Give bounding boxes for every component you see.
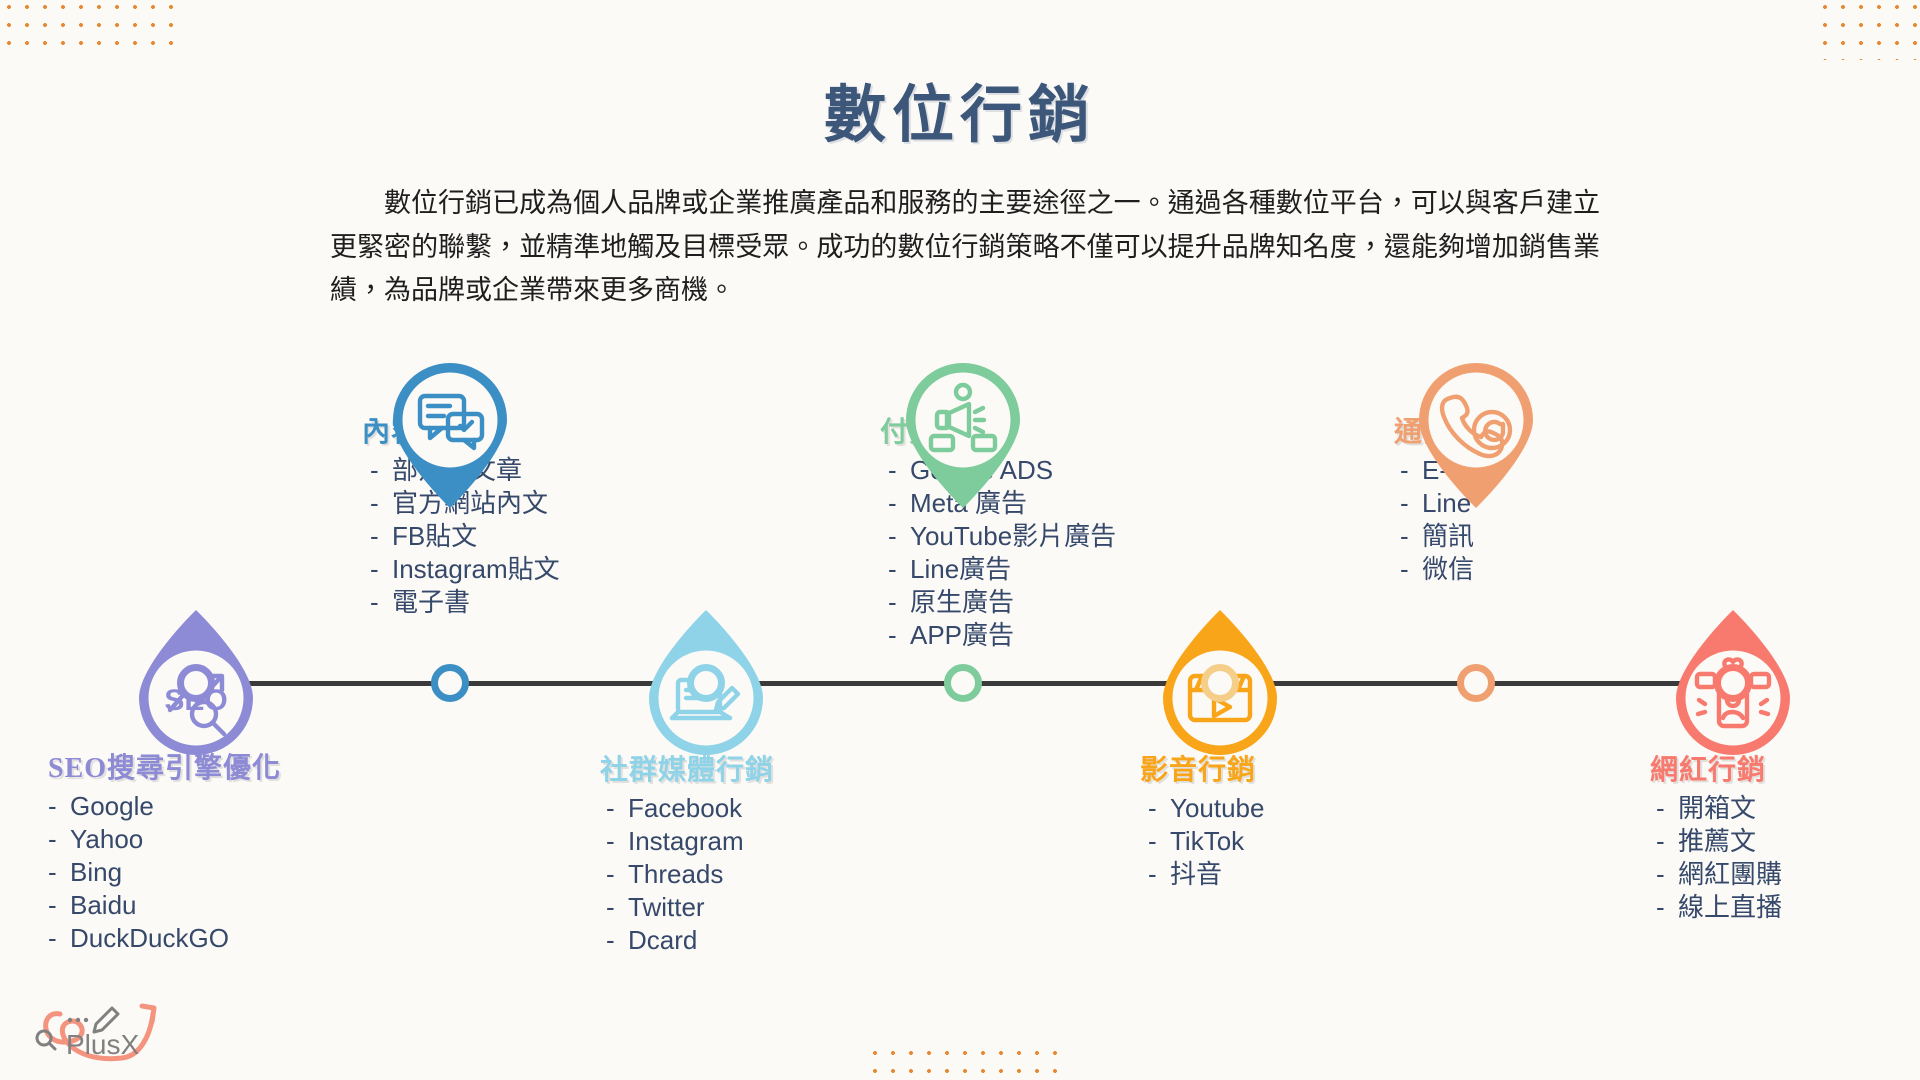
list-item: -電子書 xyxy=(370,586,670,619)
list-item-label: Line廣告 xyxy=(910,554,1011,584)
list-item-label: Yahoo xyxy=(70,824,143,854)
list-bullet-dash: - xyxy=(888,520,897,553)
list-bullet-dash: - xyxy=(606,825,615,858)
list-item: -抖音 xyxy=(1148,858,1438,891)
section-list-influencer: -開箱文-推薦文-網紅團購-線上直播 xyxy=(1656,792,1920,924)
list-item-label: 抖音 xyxy=(1170,859,1222,889)
list-item: -Facebook xyxy=(606,792,906,825)
section-influencer: 網紅行銷-開箱文-推薦文-網紅團購-線上直播 xyxy=(1656,748,1920,924)
pin-paid-ads[interactable] xyxy=(888,358,1038,508)
list-item: -Google xyxy=(48,790,348,823)
list-bullet-dash: - xyxy=(888,586,897,619)
section-list-social: -Facebook-Instagram-Threads-Twitter-Dcar… xyxy=(606,792,906,957)
infographic-canvas: 數位行銷 數位行銷已成為個人品牌或企業推廣產品和服務的主要途徑之一。通過各種數位… xyxy=(0,0,1920,1080)
section-list-seo: -Google-Yahoo-Bing-Baidu-DuckDuckGO xyxy=(48,790,348,955)
timeline-node-paid-ads[interactable] xyxy=(944,664,982,702)
list-item: -微信 xyxy=(1400,553,1690,586)
list-bullet-dash: - xyxy=(48,856,57,889)
list-item-label: DuckDuckGO xyxy=(70,923,229,953)
timeline-node-content[interactable] xyxy=(431,664,469,702)
list-bullet-dash: - xyxy=(606,924,615,957)
list-item-label: Instagram xyxy=(628,826,744,856)
list-item: -Twitter xyxy=(606,891,906,924)
list-item: -推薦文 xyxy=(1656,825,1920,858)
plusx-logo: PlusX xyxy=(22,992,172,1072)
list-bullet-dash: - xyxy=(1656,792,1665,825)
list-bullet-dash: - xyxy=(48,889,57,922)
list-bullet-dash: - xyxy=(1400,520,1409,553)
page-title: 數位行銷 xyxy=(0,64,1920,154)
list-item: -Bing xyxy=(48,856,348,889)
list-bullet-dash: - xyxy=(606,792,615,825)
list-item: -Dcard xyxy=(606,924,906,957)
list-item-label: 線上直播 xyxy=(1678,892,1782,922)
list-item-label: Threads xyxy=(628,859,723,889)
list-bullet-dash: - xyxy=(1656,825,1665,858)
list-item-label: APP廣告 xyxy=(910,620,1014,650)
list-item-label: YouTube影片廣告 xyxy=(910,521,1116,551)
list-item: -Yahoo xyxy=(48,823,348,856)
list-bullet-dash: - xyxy=(1148,858,1157,891)
list-item-label: 電子書 xyxy=(392,587,470,617)
list-bullet-dash: - xyxy=(1148,792,1157,825)
list-bullet-dash: - xyxy=(48,922,57,955)
list-item-label: Instagram貼文 xyxy=(392,554,560,584)
timeline-node-social[interactable] xyxy=(687,664,725,702)
list-bullet-dash: - xyxy=(888,553,897,586)
list-item: -DuckDuckGO xyxy=(48,922,348,955)
list-item-label: Baidu xyxy=(70,890,137,920)
list-item-label: 開箱文 xyxy=(1678,793,1756,823)
list-item-label: 網紅團購 xyxy=(1678,859,1782,889)
list-item: -Line廣告 xyxy=(888,553,1208,586)
timeline-node-messaging[interactable] xyxy=(1457,664,1495,702)
list-bullet-dash: - xyxy=(370,520,379,553)
dot-pattern-bottom-center-icon xyxy=(862,1040,1062,1080)
timeline-node-influencer[interactable] xyxy=(1714,664,1752,702)
list-bullet-dash: - xyxy=(1400,553,1409,586)
list-item-label: FB貼文 xyxy=(392,521,477,551)
list-bullet-dash: - xyxy=(48,823,57,856)
list-item-label: Youtube xyxy=(1170,793,1264,823)
list-bullet-dash: - xyxy=(370,553,379,586)
list-bullet-dash: - xyxy=(1656,858,1665,891)
section-social: 社群媒體行銷-Facebook-Instagram-Threads-Twitte… xyxy=(606,748,906,957)
section-list-video: -Youtube-TikTok-抖音 xyxy=(1148,792,1438,891)
list-item: -簡訊 xyxy=(1400,520,1690,553)
list-item-label: 微信 xyxy=(1422,554,1474,584)
section-video: 影音行銷-Youtube-TikTok-抖音 xyxy=(1148,748,1438,891)
list-item-label: Twitter xyxy=(628,892,705,922)
list-item: -網紅團購 xyxy=(1656,858,1920,891)
pin-messaging[interactable] xyxy=(1401,358,1551,508)
list-bullet-dash: - xyxy=(1656,891,1665,924)
list-item-label: Facebook xyxy=(628,793,742,823)
list-item: -Youtube xyxy=(1148,792,1438,825)
list-item-label: 簡訊 xyxy=(1422,521,1474,551)
list-item: -Baidu xyxy=(48,889,348,922)
list-item-label: Dcard xyxy=(628,925,697,955)
intro-paragraph: 數位行銷已成為個人品牌或企業推廣產品和服務的主要途徑之一。通過各種數位平台，可以… xyxy=(330,182,1600,313)
list-item-label: 原生廣告 xyxy=(910,587,1014,617)
list-item: -TikTok xyxy=(1148,825,1438,858)
list-item-label: TikTok xyxy=(1170,826,1244,856)
list-bullet-dash: - xyxy=(1148,825,1157,858)
list-item: -線上直播 xyxy=(1656,891,1920,924)
list-bullet-dash: - xyxy=(370,586,379,619)
list-item: -FB貼文 xyxy=(370,520,670,553)
list-bullet-dash: - xyxy=(606,891,615,924)
list-item-label: Bing xyxy=(70,857,122,887)
list-item: -Instagram貼文 xyxy=(370,553,670,586)
dot-pattern-top-left-icon xyxy=(0,0,186,56)
list-item: -Instagram xyxy=(606,825,906,858)
section-seo: SEO搜尋引擎優化-Google-Yahoo-Bing-Baidu-DuckDu… xyxy=(48,746,348,955)
timeline-node-seo[interactable] xyxy=(177,664,215,702)
list-item: -Threads xyxy=(606,858,906,891)
list-item: -YouTube影片廣告 xyxy=(888,520,1208,553)
list-bullet-dash: - xyxy=(48,790,57,823)
timeline-node-video[interactable] xyxy=(1201,664,1239,702)
list-bullet-dash: - xyxy=(888,619,897,652)
pin-content[interactable] xyxy=(375,358,525,508)
list-item-label: Google xyxy=(70,791,154,821)
dot-pattern-top-right-icon xyxy=(1812,0,1920,60)
list-item-label: 推薦文 xyxy=(1678,826,1756,856)
list-item: -開箱文 xyxy=(1656,792,1920,825)
list-bullet-dash: - xyxy=(606,858,615,891)
plusx-logo-text: PlusX xyxy=(66,1029,139,1060)
